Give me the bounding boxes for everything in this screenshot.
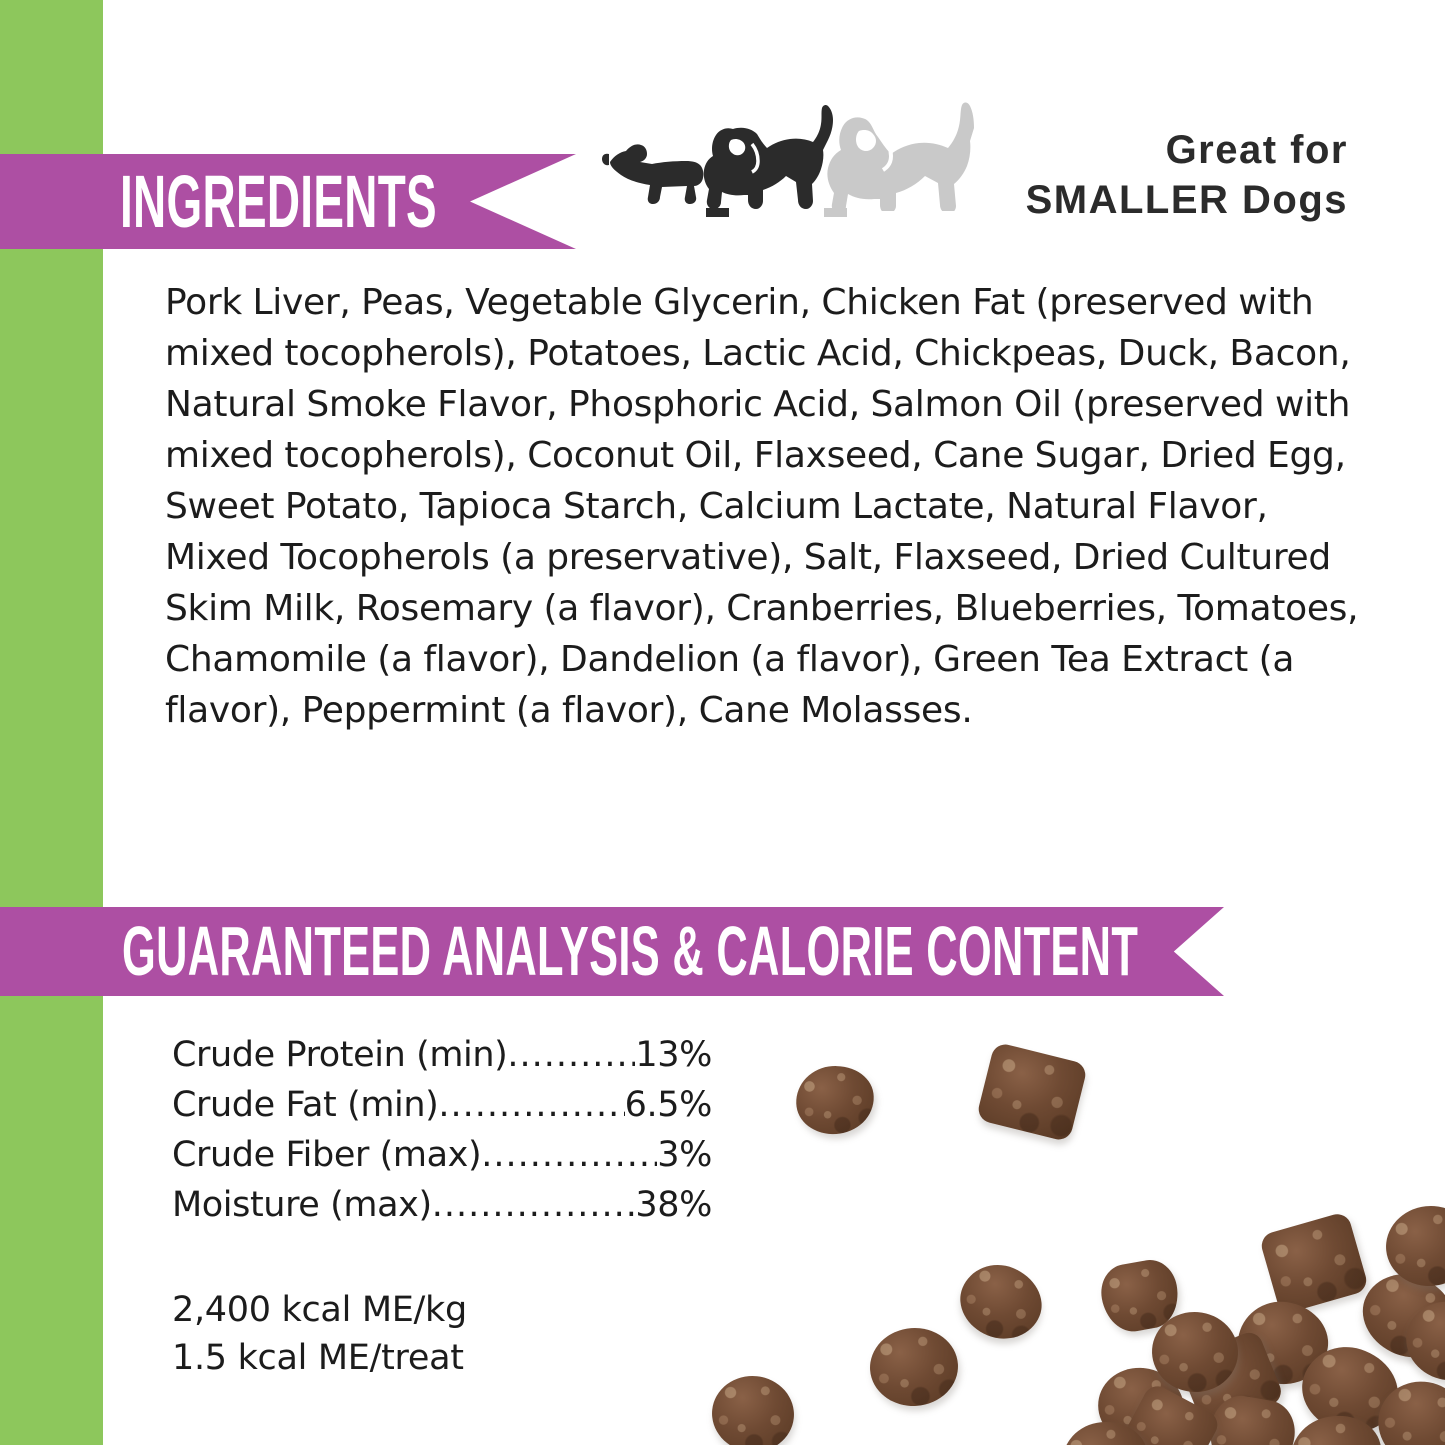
guaranteed-analysis-row: Moisture (max) .................... 38%	[172, 1180, 712, 1230]
guaranteed-analysis-row: Crude Protein (min) .............. 13%	[172, 1030, 712, 1080]
kibble-piece	[708, 1372, 797, 1445]
size-callout-line1: Great for	[1026, 125, 1348, 175]
dog-size-indicator	[600, 96, 975, 211]
nutrient-label: Crude Fiber (max)	[172, 1130, 481, 1180]
calories-per-kg: 2,400 kcal ME/kg	[172, 1286, 467, 1334]
kibble-piece	[792, 1061, 879, 1139]
kibble-piece	[867, 1325, 960, 1409]
dot-leader: ....................	[432, 1180, 636, 1230]
guaranteed-analysis-banner: GUARANTEED ANALYSIS & CALORIE CONTENT	[0, 907, 1224, 996]
ingredients-banner-title: INGREDIENTS	[120, 154, 437, 249]
guaranteed-analysis-list: Crude Protein (min) .............. 13% C…	[172, 1030, 712, 1230]
small-dog-dachshund-icon	[602, 144, 703, 204]
large-dog-hound-icon	[827, 102, 974, 211]
kibble-piece	[1258, 1211, 1369, 1315]
size-callout: Great for SMALLER Dogs	[1026, 125, 1348, 225]
medium-dog-beagle-icon	[704, 105, 833, 209]
kibble-piece	[949, 1253, 1052, 1350]
size-callout-line2: SMALLER Dogs	[1026, 175, 1348, 225]
ingredients-banner: INGREDIENTS	[0, 154, 576, 249]
dot-leader: ..................	[481, 1130, 657, 1180]
calorie-content: 2,400 kcal ME/kg 1.5 kcal ME/treat	[172, 1286, 467, 1382]
product-label-panel: Great for SMALLER Dogs INGREDIENTS Pork …	[0, 0, 1445, 1445]
dot-leader: ...................	[438, 1080, 624, 1130]
dash-separator-icon	[706, 208, 729, 217]
kibble-treat-photo	[690, 1030, 1445, 1445]
dot-leader: ..............	[507, 1030, 635, 1080]
guaranteed-analysis-banner-title: GUARANTEED ANALYSIS & CALORIE CONTENT	[122, 907, 1138, 996]
ingredients-text: Pork Liver, Peas, Vegetable Glycerin, Ch…	[165, 277, 1361, 736]
dash-separator-icon	[824, 208, 847, 217]
nutrient-label: Crude Protein (min)	[172, 1030, 507, 1080]
guaranteed-analysis-row: Crude Fiber (max) .................. 3%	[172, 1130, 712, 1180]
nutrient-label: Crude Fat (min)	[172, 1080, 438, 1130]
nutrient-label: Moisture (max)	[172, 1180, 432, 1230]
guaranteed-analysis-row: Crude Fat (min) ................... 6.5%	[172, 1080, 712, 1130]
calories-per-treat: 1.5 kcal ME/treat	[172, 1334, 467, 1382]
kibble-piece	[976, 1042, 1089, 1143]
